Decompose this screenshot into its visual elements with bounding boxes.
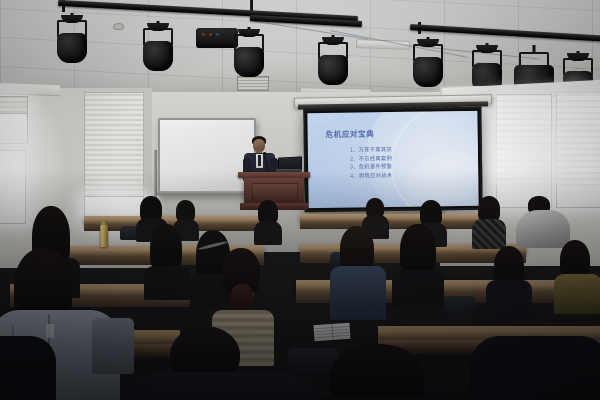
smoke-detector-left	[113, 23, 124, 30]
slide-bullet-list: 1、万变不离其宗 2、不忘经典案例 3、危机事件预警 4、舆情应对战术	[350, 146, 392, 181]
audience-torso	[254, 221, 282, 245]
audience-torso	[144, 266, 190, 300]
audience-torso-puffer	[516, 210, 570, 248]
stage-light-box-fixture	[196, 28, 238, 48]
audience-torso	[316, 396, 444, 400]
audience-torso-checked	[472, 219, 506, 249]
audience-torso	[470, 336, 600, 400]
audience-torso-dark-coat	[118, 372, 328, 400]
window-blind-left-large	[84, 92, 144, 202]
shoulder-bag	[92, 318, 134, 374]
wall-soffit-left	[0, 83, 60, 96]
audience-torso-olive	[554, 274, 600, 314]
microphone-head	[263, 152, 266, 155]
slide-title: 危机应对宝典	[326, 128, 375, 140]
audience-torso	[486, 280, 532, 316]
jacket-tag	[46, 324, 54, 338]
audience-hair	[150, 224, 182, 272]
audience-torso	[392, 270, 444, 310]
audience-hair	[330, 344, 424, 400]
presenter-tie	[258, 155, 261, 166]
window-blind-right-c	[556, 92, 600, 186]
whiteboard-marker-tray	[156, 191, 254, 195]
audience-torso-denim	[330, 266, 386, 320]
chair-back-4	[442, 296, 476, 316]
window-left-lower	[0, 150, 26, 224]
slide-bullet-1: 1、万变不离其宗	[350, 146, 392, 155]
projection-screen: 危机应对宝典 1、万变不离其宗 2、不忘经典案例 3、危机事件预警 4、舆情应对…	[303, 107, 482, 212]
slide-bullet-3: 3、危机事件预警	[350, 163, 392, 172]
lectern-front-panel	[252, 183, 298, 202]
audience-torso	[0, 336, 56, 400]
audience-hair	[400, 224, 436, 276]
presentation-slide: 危机应对宝典 1、万变不离其宗 2、不忘经典案例 3、危机事件预警 4、舆情应对…	[307, 111, 478, 208]
open-notebook	[313, 323, 350, 341]
window-blind-left-upper	[0, 96, 28, 114]
slide-bullet-4: 4、舆情应对战术	[350, 172, 392, 181]
window-blind-right-b	[496, 94, 550, 186]
lecture-hall-photo: 危机应对宝典 1、万变不离其宗 2、不忘经典案例 3、危机事件预警 4、舆情应对…	[0, 0, 600, 400]
thermos-flask	[100, 225, 108, 247]
whiteboard	[158, 118, 256, 196]
ceiling-air-vent-center	[237, 76, 269, 91]
desk-row-1-right-front	[300, 222, 490, 229]
